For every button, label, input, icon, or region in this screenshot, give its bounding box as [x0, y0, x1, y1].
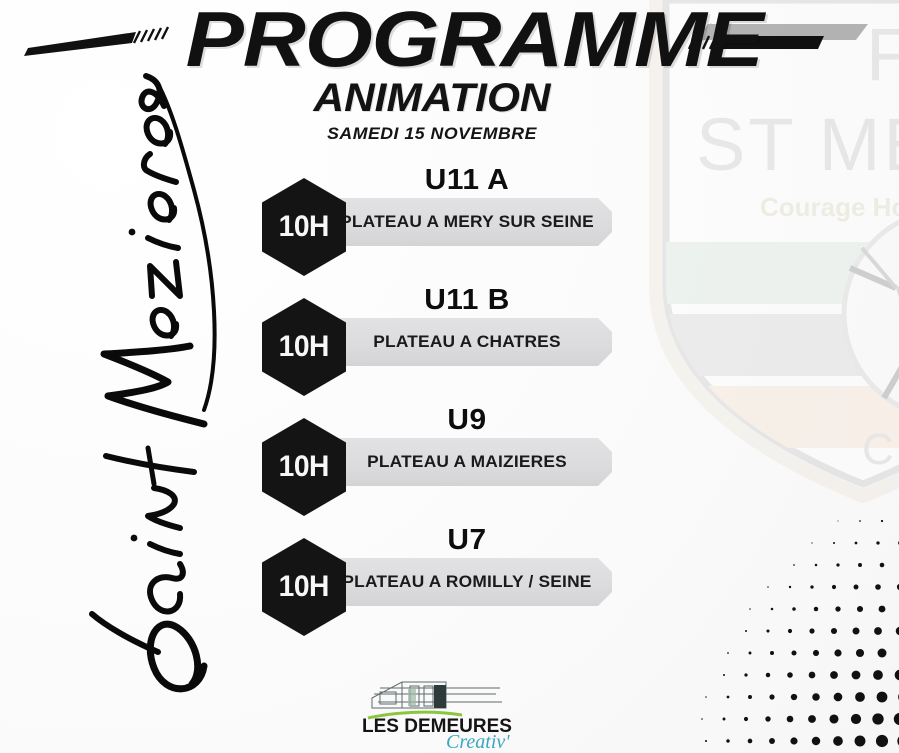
- schedule-row-time: 10H: [279, 570, 329, 604]
- schedule-row-category: U11 A: [320, 164, 615, 197]
- schedule-row-time: 10H: [279, 330, 329, 364]
- schedule-row: U11 A PLATEAU A MERY SUR SEINE 10H: [256, 166, 616, 286]
- svg-text:Courage Hon: Courage Hon: [760, 192, 899, 222]
- schedule-row-place: PLATEAU A MAIZIERES: [321, 438, 613, 486]
- halftone-dots-decoration: [690, 465, 899, 753]
- schedule-row-category: U11 B: [320, 284, 615, 317]
- speed-lines-left-decoration: [24, 26, 174, 56]
- schedule-row: U7 PLATEAU A ROMILLY / SEINE 10H: [256, 526, 616, 646]
- schedule-row-time: 10H: [279, 210, 329, 244]
- sponsor-logo: LES DEMEURES Creativ': [350, 668, 535, 753]
- schedule-row-category: U9: [320, 404, 615, 437]
- page-subtitle: ANIMATION: [199, 78, 665, 118]
- page-title: PROGRAMME: [186, 4, 679, 76]
- headline-block: PROGRAMME ANIMATION SAMEDI 15 NOVEMBRE: [212, 4, 652, 144]
- club-script-name: [54, 70, 234, 710]
- schedule-row-place: PLATEAU A ROMILLY / SEINE: [321, 558, 613, 606]
- poster-canvas: FO ST ME Courage Hon CH: [0, 0, 899, 753]
- page-date: SAMEDI 15 NOVEMBRE: [203, 124, 661, 144]
- schedule-list: U11 A PLATEAU A MERY SUR SEINE 10H U11 B…: [256, 166, 616, 646]
- svg-text:FO: FO: [866, 13, 899, 96]
- sponsor-tagline: Creativ': [446, 731, 510, 753]
- schedule-row-place: PLATEAU A MERY SUR SEINE: [321, 198, 613, 246]
- svg-text:CH: CH: [862, 425, 899, 474]
- schedule-row: U11 B PLATEAU A CHATRES 10H: [256, 286, 616, 406]
- schedule-row-time: 10H: [279, 450, 329, 484]
- schedule-row-place: PLATEAU A CHATRES: [321, 318, 613, 366]
- svg-text:ST ME: ST ME: [696, 103, 899, 186]
- schedule-row: U9 PLATEAU A MAIZIERES 10H: [256, 406, 616, 526]
- schedule-row-category: U7: [320, 524, 615, 557]
